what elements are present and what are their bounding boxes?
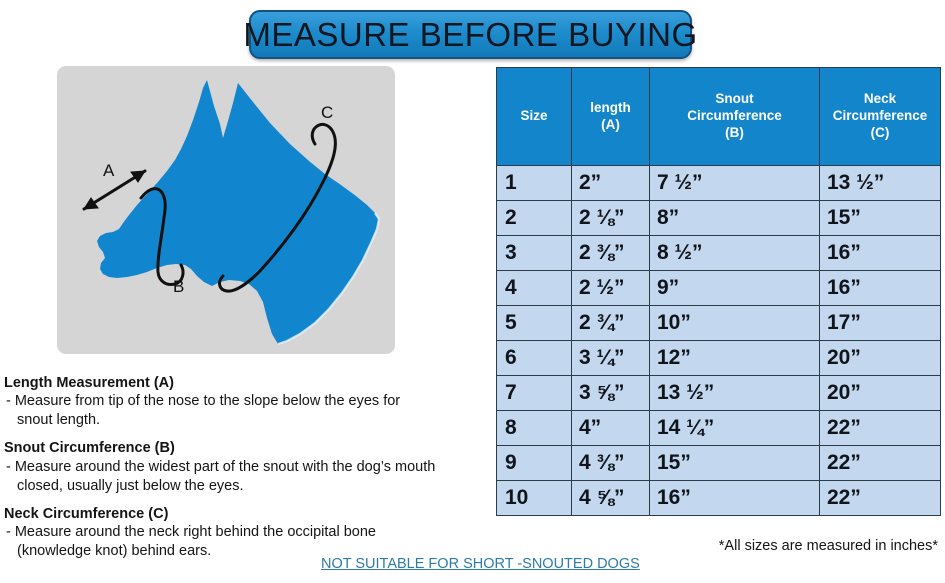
instruction-text: - Measure around the widest part of the … <box>4 458 490 496</box>
instruction-text: - Measure from tip of the nose to the sl… <box>4 392 490 430</box>
instruction-line-2: snout length. <box>6 411 490 430</box>
cell-snout-circumference: 10” <box>650 306 820 341</box>
column-header-length: length (A) <box>572 68 650 166</box>
table-header-row: Size length (A) Snout Circumference (B) … <box>497 68 941 166</box>
header-line-1: Snout <box>653 91 816 108</box>
cell-size: 7 <box>497 376 572 411</box>
cell-size: 8 <box>497 411 572 446</box>
cell-length: 2 ½” <box>572 271 650 306</box>
instruction-heading: Length Measurement (A) <box>4 374 490 392</box>
cell-size: 10 <box>497 481 572 516</box>
column-header-size: Size <box>497 68 572 166</box>
table-row: 42 ½”9”16” <box>497 271 941 306</box>
cell-snout-circumference: 16” <box>650 481 820 516</box>
page-title-banner: MEASURE BEFORE BUYING <box>249 10 692 59</box>
cell-snout-circumference: 8 ½” <box>650 236 820 271</box>
cell-size: 1 <box>497 166 572 201</box>
table-row: 12”7 ½”13 ½” <box>497 166 941 201</box>
cell-length: 3 ⅝” <box>572 376 650 411</box>
table-row: 52 ¾”10”17” <box>497 306 941 341</box>
header-line-2: Circumference <box>823 108 937 125</box>
cell-snout-circumference: 12” <box>650 341 820 376</box>
measure-b-label: B <box>173 277 184 296</box>
column-header-snout-circumference: Snout Circumference (B) <box>650 68 820 166</box>
cell-size: 6 <box>497 341 572 376</box>
instruction-line-1: - Measure from tip of the nose to the sl… <box>6 393 400 409</box>
cell-length: 3 ¼” <box>572 341 650 376</box>
cell-neck-circumference: 15” <box>820 201 941 236</box>
cell-length: 2 ⅛” <box>572 201 650 236</box>
cell-size: 3 <box>497 236 572 271</box>
cell-snout-circumference: 15” <box>650 446 820 481</box>
cell-neck-circumference: 17” <box>820 306 941 341</box>
dog-measurement-illustration: A B C <box>57 66 395 354</box>
instruction-heading: Neck Circumference (C) <box>4 505 490 523</box>
cell-size: 2 <box>497 201 572 236</box>
cell-size: 4 <box>497 271 572 306</box>
cell-snout-circumference: 14 ¼” <box>650 411 820 446</box>
instruction-line-2: closed, usually just below the eyes. <box>6 477 490 496</box>
cell-size: 9 <box>497 446 572 481</box>
header-line-2: Circumference <box>653 108 816 125</box>
measure-a-label: A <box>103 161 115 180</box>
dog-head-silhouette <box>97 80 379 344</box>
cell-neck-circumference: 22” <box>820 481 941 516</box>
cell-snout-circumference: 8” <box>650 201 820 236</box>
instruction-line-1: - Measure around the neck right behind t… <box>6 524 376 540</box>
cell-neck-circumference: 20” <box>820 376 941 411</box>
page-title: MEASURE BEFORE BUYING <box>243 16 697 54</box>
table-row: 104 ⅝”16”22” <box>497 481 941 516</box>
cell-length: 2” <box>572 166 650 201</box>
table-row: 32 ⅜”8 ½”16” <box>497 236 941 271</box>
header-line-2: (A) <box>575 117 646 134</box>
column-header-neck-circumference: Neck Circumference (C) <box>820 68 941 166</box>
cell-length: 4 ⅜” <box>572 446 650 481</box>
instruction-block-neck: Neck Circumference (C) - Measure around … <box>4 505 490 561</box>
size-chart-table: Size length (A) Snout Circumference (B) … <box>496 67 941 516</box>
cell-neck-circumference: 22” <box>820 411 941 446</box>
table-row: 73 ⅝”13 ½”20” <box>497 376 941 411</box>
cell-snout-circumference: 9” <box>650 271 820 306</box>
header-line-1: Size <box>500 108 568 125</box>
header-line-3: (C) <box>823 125 937 142</box>
header-line-1: Neck <box>823 91 937 108</box>
cell-neck-circumference: 13 ½” <box>820 166 941 201</box>
header-line-1: length <box>575 100 646 117</box>
cell-length: 4” <box>572 411 650 446</box>
cell-snout-circumference: 13 ½” <box>650 376 820 411</box>
cell-size: 5 <box>497 306 572 341</box>
instruction-block-length: Length Measurement (A) - Measure from ti… <box>4 374 490 430</box>
cell-length: 2 ⅜” <box>572 236 650 271</box>
cell-neck-circumference: 16” <box>820 271 941 306</box>
table-row: 94 ⅜”15”22” <box>497 446 941 481</box>
measure-a-arrow <box>84 171 145 209</box>
table-row: 63 ¼”12”20” <box>497 341 941 376</box>
cell-neck-circumference: 22” <box>820 446 941 481</box>
cell-neck-circumference: 16” <box>820 236 941 271</box>
instruction-block-snout: Snout Circumference (B) - Measure around… <box>4 439 490 495</box>
not-suitable-note: NOT SUITABLE FOR SHORT -SNOUTED DOGS <box>321 556 640 572</box>
cell-snout-circumference: 7 ½” <box>650 166 820 201</box>
all-sizes-inches-note: *All sizes are measured in inches* <box>719 538 938 554</box>
instruction-heading: Snout Circumference (B) <box>4 439 490 457</box>
measure-c-label: C <box>321 103 333 122</box>
instruction-line-1: - Measure around the widest part of the … <box>6 459 435 475</box>
table-body: 12”7 ½”13 ½”22 ⅛”8”15”32 ⅜”8 ½”16”42 ½”9… <box>497 166 941 516</box>
table-row: 22 ⅛”8”15” <box>497 201 941 236</box>
header-line-3: (B) <box>653 125 816 142</box>
cell-neck-circumference: 20” <box>820 341 941 376</box>
cell-length: 4 ⅝” <box>572 481 650 516</box>
dog-head-diagram: A B C <box>57 66 395 354</box>
table-row: 84”14 ¼”22” <box>497 411 941 446</box>
cell-length: 2 ¾” <box>572 306 650 341</box>
measurement-instructions: Length Measurement (A) - Measure from ti… <box>4 374 490 570</box>
